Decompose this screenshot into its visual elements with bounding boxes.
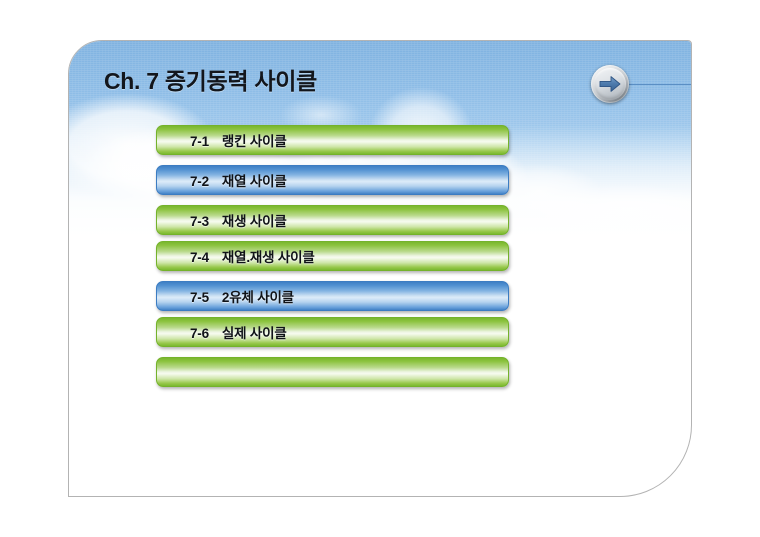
list-item[interactable]: 7-6실제 사이클 [156, 317, 509, 347]
list-item-text: 7-6실제 사이클 [157, 322, 287, 342]
list-item-number: 7-3 [190, 214, 209, 229]
list-item-text: 7-3재생 사이클 [157, 210, 287, 230]
list-item-text: 7-1랭킨 사이클 [157, 130, 287, 150]
list-item-label: 랭킨 사이클 [222, 134, 287, 149]
list-item-label: 실제 사이클 [222, 326, 287, 341]
list-item[interactable]: 7-2재열 사이클 [156, 165, 509, 195]
page-title: Ch. 7 증기동력 사이클 [104, 62, 317, 96]
list-item-text [157, 365, 203, 380]
list-item-label: 재생 사이클 [222, 214, 287, 229]
list-item-text: 7-4재열.재생 사이클 [157, 246, 315, 266]
list-item-number: 7-5 [190, 290, 209, 305]
list-item-number: 7-6 [190, 326, 209, 341]
list-item-number: 7-4 [190, 250, 209, 265]
next-slide-button[interactable] [591, 65, 629, 103]
list-item[interactable]: 7-4재열.재생 사이클 [156, 241, 509, 271]
list-item-empty[interactable] [156, 357, 509, 387]
list-item-number: 7-1 [190, 134, 209, 149]
list-item-label: 재열.재생 사이클 [222, 250, 315, 265]
list-item-text: 7-52유체 사이클 [157, 286, 294, 306]
list-item[interactable]: 7-52유체 사이클 [156, 281, 509, 311]
next-button-connector-line [625, 84, 692, 85]
list-item-label: 2유체 사이클 [222, 290, 294, 305]
chapter-section-list: 7-1랭킨 사이클 7-2재열 사이클 7-3재생 사이클 7-4재열.재생 사… [156, 125, 509, 387]
list-item-label: 재열 사이클 [222, 174, 287, 189]
list-item[interactable]: 7-3재생 사이클 [156, 205, 509, 235]
list-item[interactable]: 7-1랭킨 사이클 [156, 125, 509, 155]
list-item-number: 7-2 [190, 174, 209, 189]
arrow-right-icon [599, 75, 621, 93]
list-item-text: 7-2재열 사이클 [157, 170, 287, 190]
slide-frame: Ch. 7 증기동력 사이클 7-1랭킨 사이클 7-2재열 사이클 [68, 40, 692, 497]
